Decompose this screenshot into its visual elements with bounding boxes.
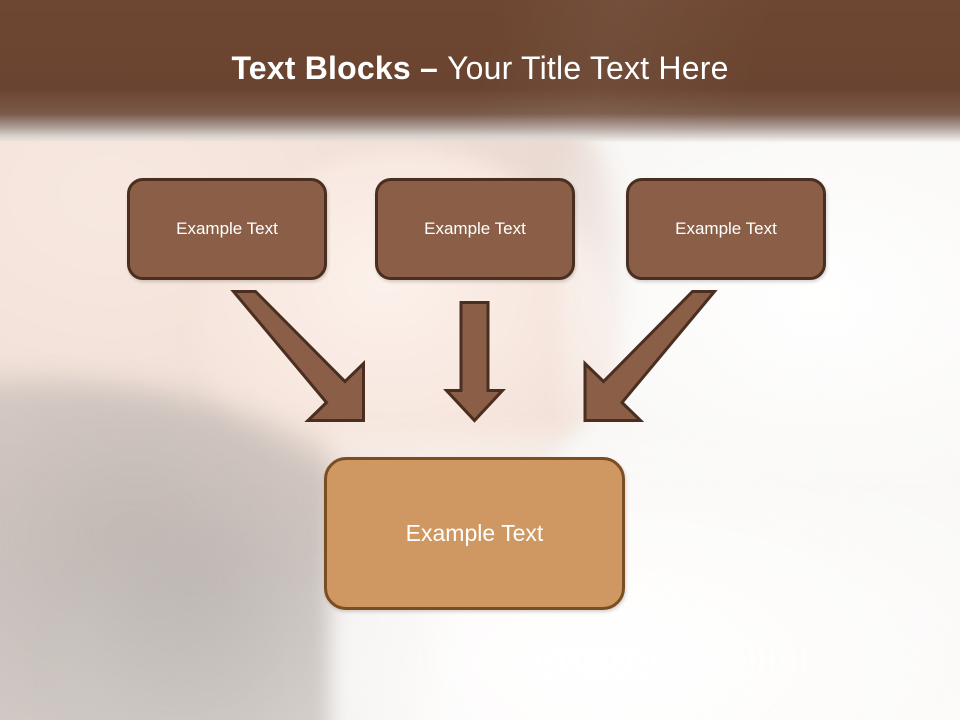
page-title-separator: – [420, 50, 447, 86]
background-white-top-right [560, 120, 960, 480]
text-block-3[interactable]: Example Text [626, 178, 826, 280]
slide-canvas: Text Blocks – Your Title Text Here Examp… [0, 0, 960, 720]
text-block-2[interactable]: Example Text [375, 178, 575, 280]
text-block-1-label: Example Text [176, 219, 278, 239]
text-block-result[interactable]: Example Text [324, 457, 625, 610]
text-block-result-label: Example Text [406, 520, 544, 547]
text-block-3-label: Example Text [675, 219, 777, 239]
page-title-strong: Text Blocks [231, 50, 420, 86]
text-block-1[interactable]: Example Text [127, 178, 327, 280]
page-title-light: Your Title Text Here [447, 50, 728, 86]
page-title: Text Blocks – Your Title Text Here [0, 48, 960, 88]
text-block-2-label: Example Text [424, 219, 526, 239]
